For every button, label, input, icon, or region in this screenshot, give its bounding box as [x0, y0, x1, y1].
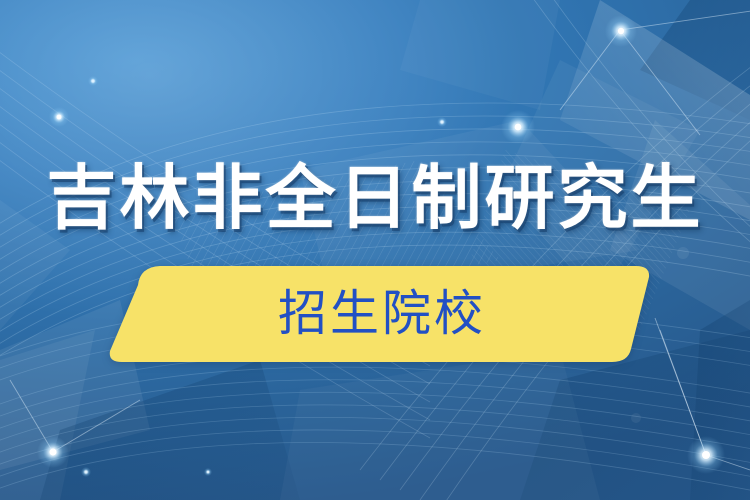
- title-block: 吉林非全日制研究生: [0, 158, 750, 238]
- promo-banner: 吉林非全日制研究生 招生院校: [0, 0, 750, 500]
- subtitle-ribbon: 招生院校: [108, 265, 650, 363]
- subtitle-label: 招生院校: [108, 265, 650, 363]
- page-title: 吉林非全日制研究生: [47, 158, 704, 238]
- background-decoration: [0, 0, 750, 500]
